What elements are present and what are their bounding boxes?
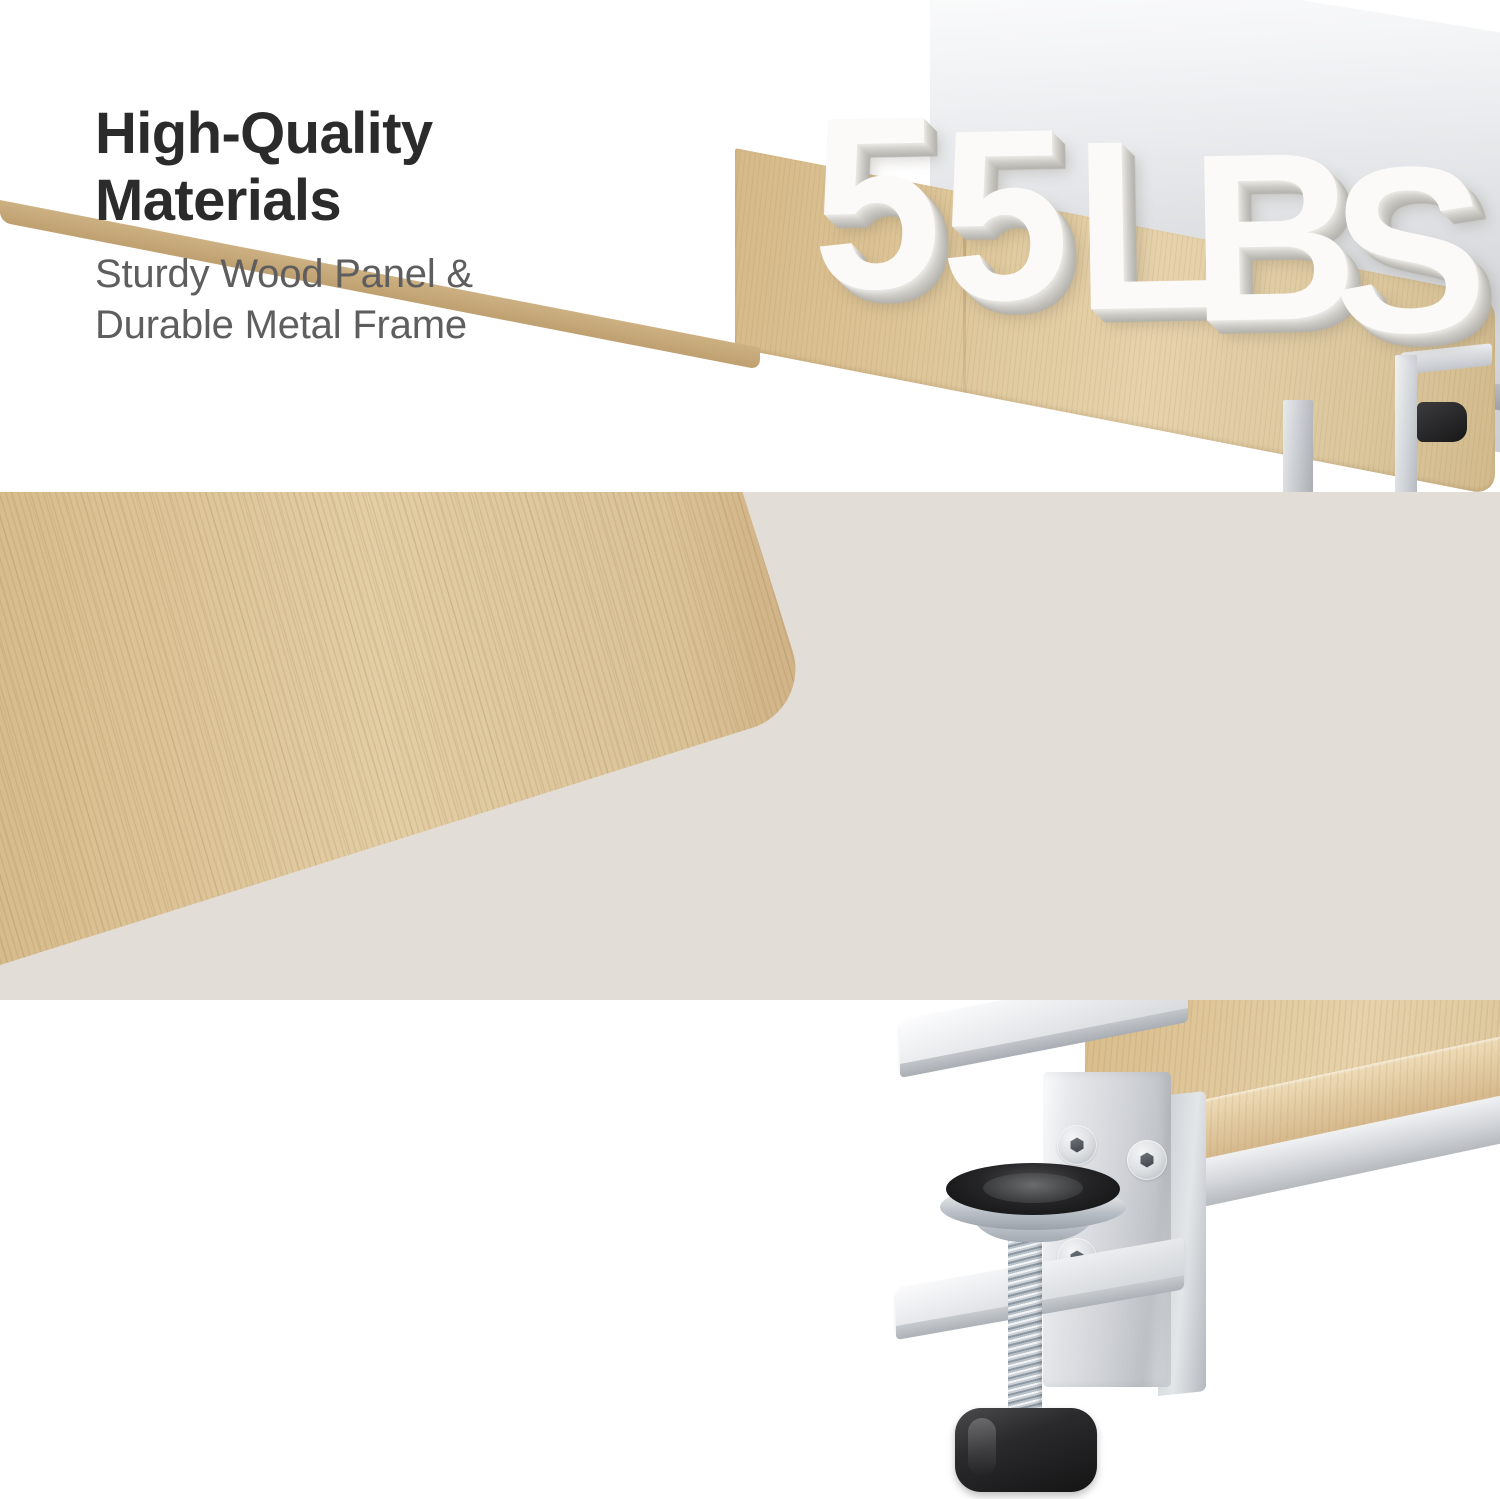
lbs-letter-1: 5 xyxy=(938,93,1071,339)
feature-subtitle-materials: Sturdy Wood Panel & Durable Metal Frame xyxy=(95,249,695,351)
clamp-knob-icon xyxy=(1417,402,1467,442)
feature-text-materials: High-Quality Materials Sturdy Wood Panel… xyxy=(95,100,695,351)
product-feature-infographic: 5 5 L B S High-Quality Materials Sturdy … xyxy=(0,0,1500,1499)
feature-panel-comfort-safety: Comfort And Safety Smooth Edges & Rounde… xyxy=(0,492,1500,1000)
wood-corner-closeup-graphic xyxy=(0,492,811,1000)
hex-screw-icon xyxy=(1127,1140,1167,1180)
lbs-letter-0: 5 xyxy=(810,80,943,328)
anti-scratch-rubber-pad-inner xyxy=(983,1173,1083,1203)
lbs-letter-4: S xyxy=(1330,131,1489,370)
wood-corner-top-surface xyxy=(0,492,811,1000)
feature-title-materials: High-Quality Materials xyxy=(95,100,695,235)
hex-screw-icon xyxy=(1057,1125,1097,1165)
feature-panel-materials: 5 5 L B S High-Quality Materials Sturdy … xyxy=(0,0,1500,492)
metal-frame-leg-left xyxy=(1283,400,1313,492)
feature-panel-clamp-design: Convenient Clamp Design With Anti-Scratc… xyxy=(0,1000,1500,1499)
clamp-knob-highlight xyxy=(968,1418,996,1476)
